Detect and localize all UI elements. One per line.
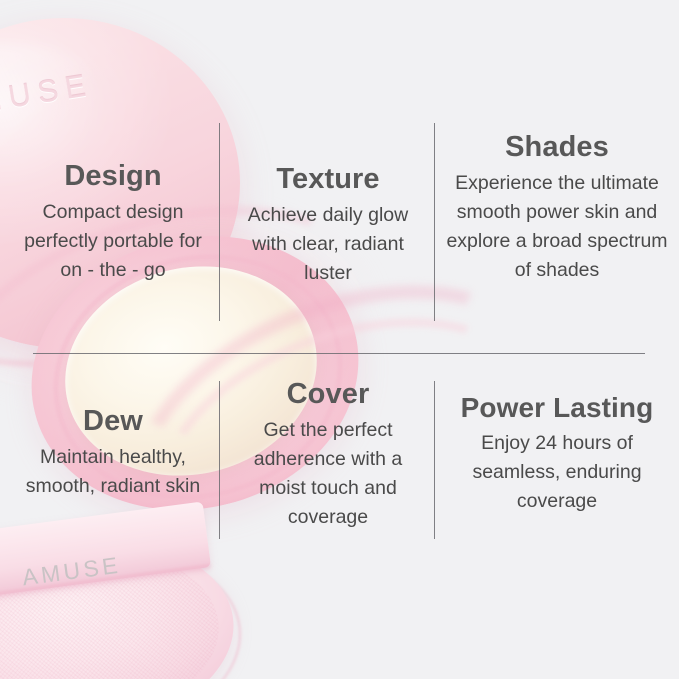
feature-block-shades: Shades Experience the ultimate smooth po… bbox=[440, 131, 674, 285]
feature-title-texture: Texture bbox=[230, 163, 426, 195]
feature-block-texture: Texture Achieve daily glow with clear, r… bbox=[224, 163, 432, 288]
feature-block-design: Design Compact design perfectly portable… bbox=[8, 160, 218, 285]
feature-description-dew: Maintain healthy, smooth, radiant skin bbox=[14, 443, 212, 501]
feature-description-power-lasting: Enjoy 24 hours of seamless, enduring cov… bbox=[446, 429, 668, 516]
feature-title-dew: Dew bbox=[14, 405, 212, 437]
feature-block-cover: Cover Get the perfect adherence with a m… bbox=[224, 378, 432, 532]
feature-title-power-lasting: Power Lasting bbox=[446, 392, 668, 423]
feature-description-cover: Get the perfect adherence with a moist t… bbox=[230, 416, 426, 531]
feature-description-texture: Achieve daily glow with clear, radiant l… bbox=[230, 201, 426, 288]
feature-title-shades: Shades bbox=[446, 131, 668, 163]
feature-block-power-lasting: Power Lasting Enjoy 24 hours of seamless… bbox=[440, 392, 674, 516]
feature-description-shades: Experience the ultimate smooth power ski… bbox=[446, 169, 668, 284]
feature-grid: Design Compact design perfectly portable… bbox=[0, 0, 679, 679]
product-feature-infographic: AMUSE AMUSE Design Compact design perfec… bbox=[0, 0, 679, 679]
feature-description-design: Compact design perfectly portable for on… bbox=[14, 198, 212, 285]
feature-title-design: Design bbox=[14, 160, 212, 192]
feature-title-cover: Cover bbox=[230, 378, 426, 410]
feature-block-dew: Dew Maintain healthy, smooth, radiant sk… bbox=[8, 405, 218, 501]
